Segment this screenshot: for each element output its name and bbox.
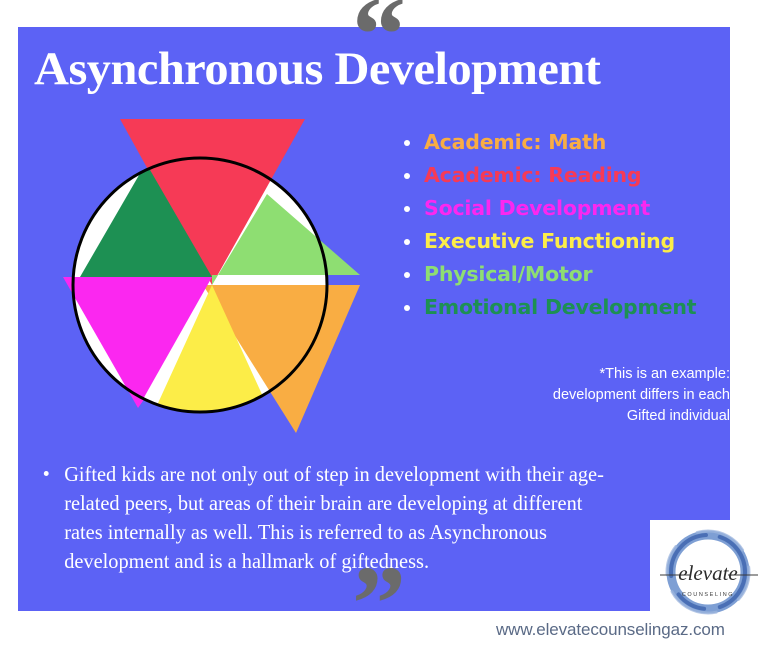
note-line-1: *This is an example: [470,364,730,385]
elevate-counseling-logo[interactable]: elevate COUNSELING [650,520,766,626]
body-paragraph: Gifted kids are not only out of step in … [38,460,620,576]
logo-wordmark: elevate [678,561,737,585]
body-paragraph-block: Gifted kids are not only out of step in … [38,460,638,576]
legend-item-academic-reading[interactable]: Academic: Reading [398,159,748,192]
page-title: Asynchronous Development [34,42,755,96]
note-line-3: Gifted individual [470,406,730,427]
legend-label: Physical/Motor [424,262,592,286]
legend-label: Social Development [424,196,650,220]
legend-item-emotional-development[interactable]: Emotional Development [398,291,748,324]
asynchronous-development-wheel-graphic [18,95,398,455]
website-url[interactable]: www.elevatecounselingaz.com [496,620,725,640]
infographic-canvas: “ ” Asynchronous Development [0,0,768,644]
legend-label: Executive Functioning [424,229,675,253]
legend-list: Academic: Math Academic: Reading Social … [398,126,748,324]
legend-label: Emotional Development [424,295,696,319]
legend-item-social-development[interactable]: Social Development [398,192,748,225]
note-line-2: development differs in each [470,385,730,406]
legend-item-academic-math[interactable]: Academic: Math [398,126,748,159]
legend-label: Academic: Math [424,130,606,154]
legend-item-executive-functioning[interactable]: Executive Functioning [398,225,748,258]
legend-label: Academic: Reading [424,163,641,187]
disclaimer-note: *This is an example: development differs… [470,364,730,427]
logo-tagline: COUNSELING [682,592,734,598]
legend-item-physical-motor[interactable]: Physical/Motor [398,258,748,291]
